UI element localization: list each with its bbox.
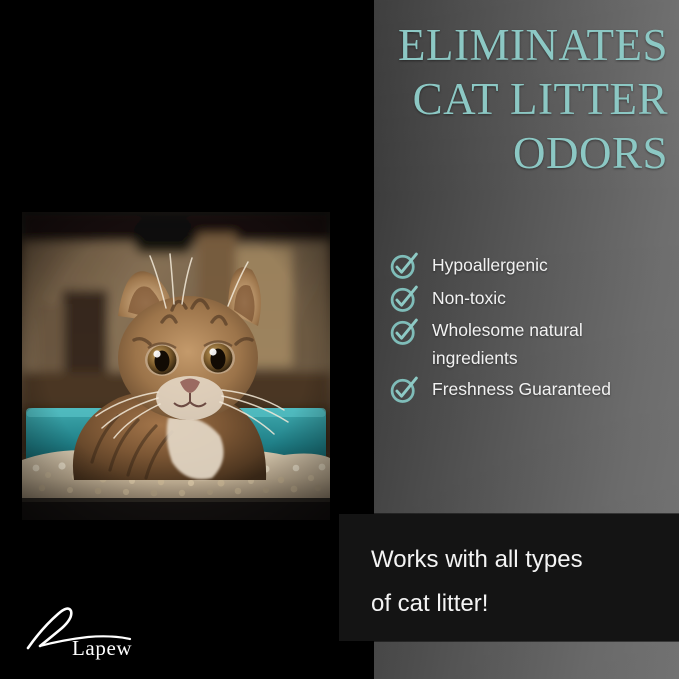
feature-item-hypoallergenic: Hypoallergenic	[389, 250, 674, 281]
headline-line-1: ELIMINATES	[286, 18, 668, 72]
feature-item-non-toxic: Non-toxic	[389, 283, 674, 314]
brand-logo: Lapew	[26, 604, 176, 666]
check-circle-icon	[389, 317, 419, 347]
check-circle-icon	[389, 251, 419, 281]
headline-line-2: CAT LITTER	[286, 72, 668, 126]
caption-text: Works with all types of cat litter!	[371, 538, 661, 626]
brand-wordmark: Lapew	[72, 638, 132, 659]
kitten-photo-illustration	[22, 212, 330, 520]
feature-label: Hypoallergenic	[432, 250, 548, 280]
check-circle-icon	[389, 284, 419, 314]
caption-panel: Works with all types of cat litter!	[339, 514, 679, 641]
headline-line-3: ODORS	[286, 126, 668, 180]
product-advertisement: ELIMINATES CAT LITTER ODORS	[0, 0, 679, 679]
caption-line-2: of cat litter!	[371, 582, 661, 626]
headline: ELIMINATES CAT LITTER ODORS	[286, 18, 668, 180]
caption-line-1: Works with all types	[371, 538, 661, 582]
feature-item-freshness-guaranteed: Freshness Guaranteed	[389, 374, 674, 405]
check-circle-icon	[389, 375, 419, 405]
feature-label: Non-toxic	[432, 283, 506, 313]
feature-item-wholesome-natural-ingredients: Wholesome natural ingredients	[389, 316, 674, 372]
product-photo	[22, 212, 330, 520]
feature-label: Freshness Guaranteed	[432, 374, 611, 404]
feature-label: Wholesome natural ingredients	[432, 316, 647, 372]
feature-list: Hypoallergenic Non-toxic Wholesome natur…	[389, 250, 674, 407]
